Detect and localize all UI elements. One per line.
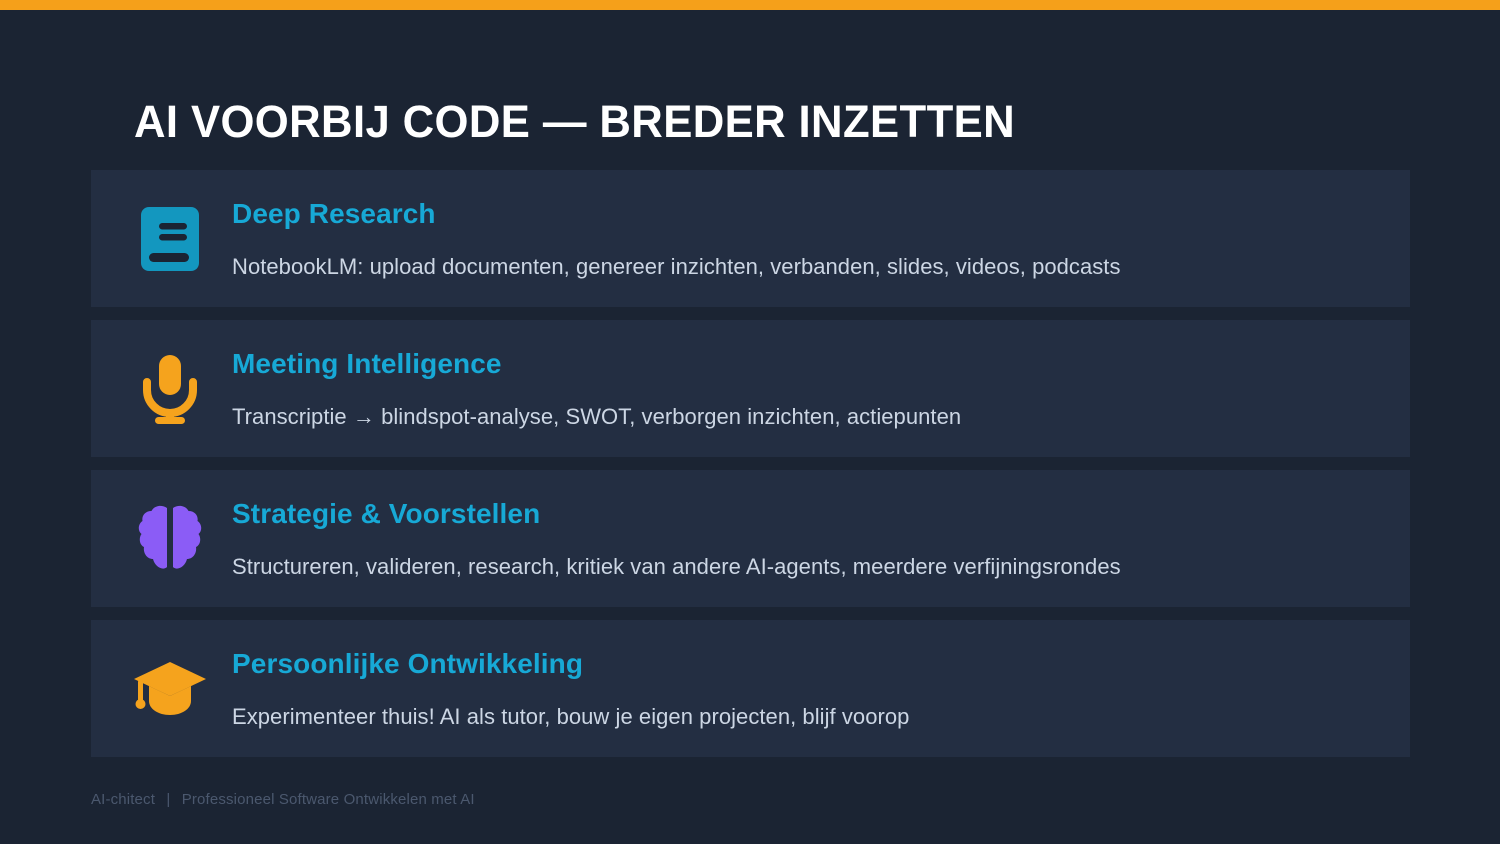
feature-card-description: NotebookLM: upload documenten, genereer …: [232, 253, 1400, 281]
footer-brand: AI-chitect: [91, 791, 155, 808]
feature-card-title: Deep Research: [232, 197, 1400, 231]
feature-card-description: Transcriptie → blindspot-analyse, SWOT, …: [232, 403, 1400, 431]
microphone-icon: [130, 320, 210, 457]
feature-card-meeting-intelligence[interactable]: Meeting Intelligence Transcriptie → blin…: [91, 320, 1410, 457]
feature-card-text: Meeting Intelligence Transcriptie → blin…: [232, 320, 1400, 457]
feature-card-description: Experimenteer thuis! AI als tutor, bouw …: [232, 703, 1400, 731]
footer: AI-chitect | Professioneel Software Ontw…: [91, 789, 475, 811]
feature-card-title: Strategie & Voorstellen: [232, 497, 1400, 531]
slide-canvas: AI VOORBIJ CODE — BREDER INZETTEN Deep R…: [0, 0, 1500, 844]
footer-tagline: Professioneel Software Ontwikkelen met A…: [182, 791, 475, 808]
book-icon: [130, 170, 210, 307]
feature-card-text: Deep Research NotebookLM: upload documen…: [232, 170, 1400, 307]
graduation-cap-icon: [130, 620, 210, 757]
feature-card-persoonlijke-ontwikkeling[interactable]: Persoonlijke Ontwikkeling Experimenteer …: [91, 620, 1410, 757]
top-accent-bar: [0, 0, 1500, 10]
feature-card-title: Persoonlijke Ontwikkeling: [232, 647, 1400, 681]
feature-card-description: Structureren, valideren, research, kriti…: [232, 553, 1400, 581]
feature-card-text: Strategie & Voorstellen Structureren, va…: [232, 470, 1400, 607]
feature-card-text: Persoonlijke Ontwikkeling Experimenteer …: [232, 620, 1400, 757]
feature-card-title: Meeting Intelligence: [232, 347, 1400, 381]
footer-separator: |: [166, 791, 170, 808]
brain-icon: [130, 470, 210, 607]
feature-card-strategie-voorstellen[interactable]: Strategie & Voorstellen Structureren, va…: [91, 470, 1410, 607]
page-title: AI VOORBIJ CODE — BREDER INZETTEN: [134, 92, 1347, 152]
feature-card-deep-research[interactable]: Deep Research NotebookLM: upload documen…: [91, 170, 1410, 307]
feature-card-list: Deep Research NotebookLM: upload documen…: [91, 170, 1410, 770]
